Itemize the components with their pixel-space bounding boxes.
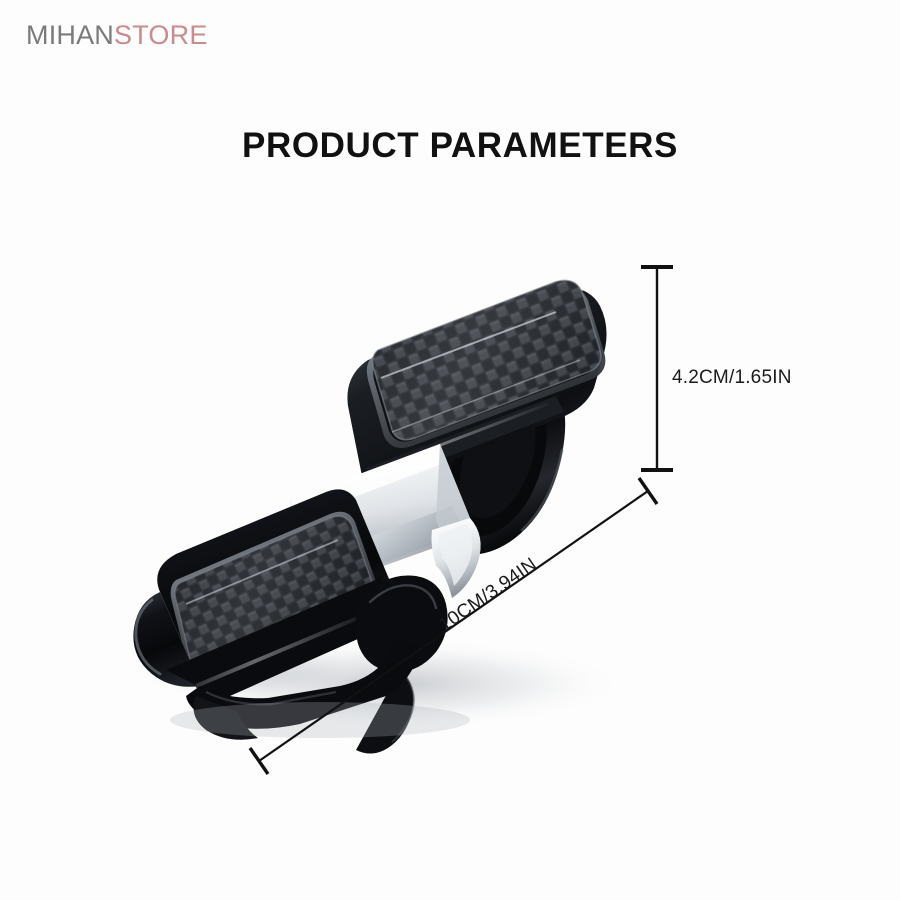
brand-logo: MIHANSTORE — [26, 22, 208, 49]
brand-logo-secondary: STORE — [114, 20, 208, 50]
brand-logo-primary: MIHAN — [26, 20, 114, 50]
product-illustration — [0, 200, 900, 820]
product-parameters-page: MIHANSTORE PRODUCT PARAMETERS — [0, 0, 900, 900]
page-title: PRODUCT PARAMETERS — [0, 128, 900, 163]
product-image — [0, 200, 900, 820]
